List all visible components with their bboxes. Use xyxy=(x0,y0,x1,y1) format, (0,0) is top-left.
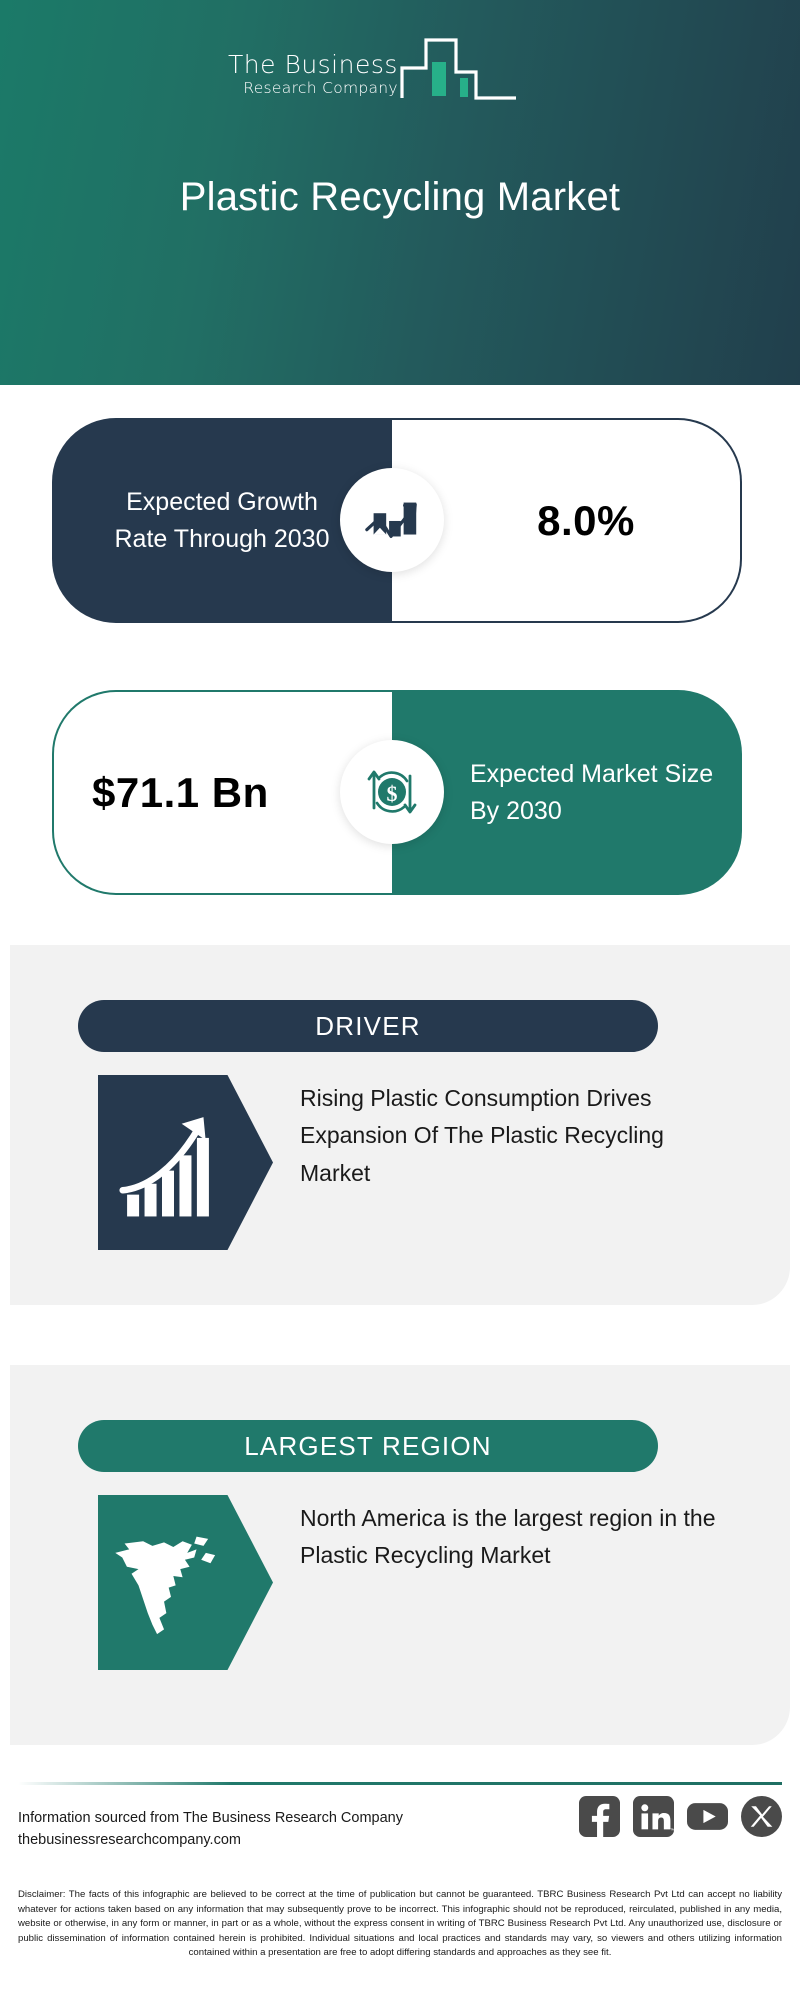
stat-card-value: $71.1 Bn xyxy=(54,769,269,817)
social-links: ™ xyxy=(579,1796,782,1837)
growth-chart-icon xyxy=(361,489,423,551)
logo-line-2: Research Company xyxy=(243,78,398,98)
svg-text:$: $ xyxy=(387,781,398,806)
driver-pill-label: DRIVER xyxy=(315,1011,420,1042)
linkedin-icon[interactable]: ™ xyxy=(633,1796,674,1837)
driver-description: Rising Plastic Consumption Drives Expans… xyxy=(300,1080,740,1192)
svg-text:™: ™ xyxy=(670,1828,674,1834)
stat-card-label: Expected Market Size By 2030 xyxy=(392,756,742,830)
stat-card-label-panel: Expected Market Size By 2030 xyxy=(392,690,742,895)
growth-arrow-chart-icon xyxy=(114,1103,234,1223)
disclaimer-text: Disclaimer: The facts of this infographi… xyxy=(18,1888,782,1961)
logo-line-1: The Business xyxy=(228,52,398,78)
footer-source-block: Information sourced from The Business Re… xyxy=(18,1807,403,1852)
region-pill: LARGEST REGION xyxy=(78,1420,658,1472)
stat-card-growth-rate: Expected Growth Rate Through 2030 8.0% xyxy=(52,418,742,623)
youtube-icon[interactable] xyxy=(687,1796,728,1837)
bar-chart-logo-icon xyxy=(400,28,518,100)
footer-source-line: Information sourced from The Business Re… xyxy=(18,1807,403,1829)
x-twitter-icon[interactable] xyxy=(741,1796,782,1837)
footer-divider xyxy=(18,1782,782,1785)
stat-card-label: Expected Growth Rate Through 2030 xyxy=(97,484,347,558)
north-america-map-icon xyxy=(112,1518,230,1648)
stat-card-value: 8.0% xyxy=(497,497,635,545)
header-banner: The Business Research Company Plastic Re… xyxy=(0,0,800,385)
logo-text: The Business Research Company xyxy=(228,52,398,104)
facebook-icon[interactable] xyxy=(579,1796,620,1837)
stat-badge-market-size: $ xyxy=(340,740,444,844)
stat-card-market-size: $71.1 Bn Expected Market Size By 2030 $ xyxy=(52,690,742,895)
stat-card-value-panel: 8.0% xyxy=(392,418,742,623)
footer-website-link[interactable]: thebusinessresearchcompany.com xyxy=(18,1829,403,1851)
region-pill-label: LARGEST REGION xyxy=(244,1431,492,1462)
infographic-page: The Business Research Company Plastic Re… xyxy=(0,0,800,2000)
region-description: North America is the largest region in t… xyxy=(300,1500,740,1575)
driver-pill: DRIVER xyxy=(78,1000,658,1052)
stat-badge-growth xyxy=(340,468,444,572)
company-logo: The Business Research Company xyxy=(228,22,528,104)
page-title: Plastic Recycling Market xyxy=(0,175,800,220)
dollar-circulation-icon: $ xyxy=(360,760,424,824)
